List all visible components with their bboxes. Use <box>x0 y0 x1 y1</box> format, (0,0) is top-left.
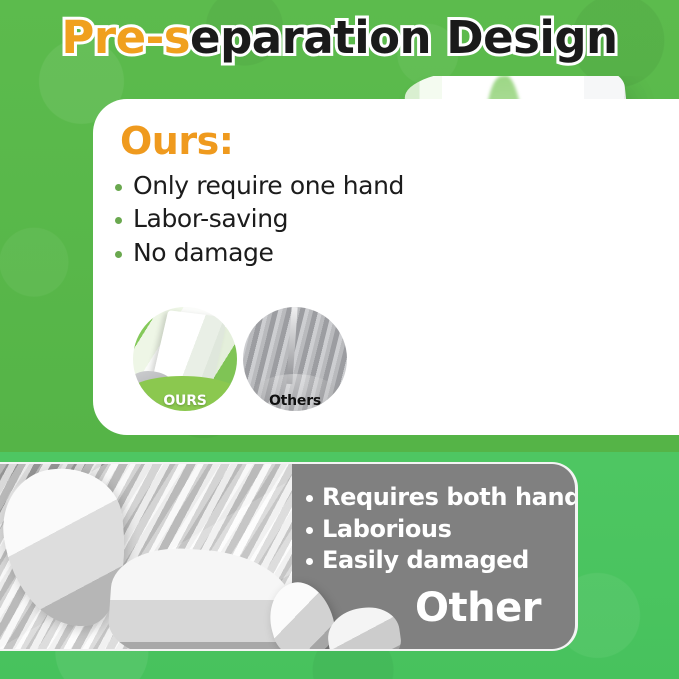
list-item: Requires both hands <box>304 482 578 514</box>
other-label: Other <box>415 585 541 631</box>
thumbnail-ours-label: OURS <box>133 393 237 409</box>
list-item: Labor-saving <box>113 202 404 235</box>
list-item: Laborious <box>304 514 578 546</box>
hand-shape-finger <box>324 603 403 651</box>
other-drawback-list: Requires both hands Laborious Easily dam… <box>304 482 578 577</box>
list-item: Only require one hand <box>113 169 404 202</box>
ours-benefit-list: Only require one hand Labor-saving No da… <box>113 169 404 269</box>
ours-card: Ours: Only require one hand Labor-saving… <box>93 99 679 435</box>
list-item: Easily damaged <box>304 545 578 577</box>
thumbnail-others-label: Others <box>243 393 347 409</box>
title-main-text: eparation Design <box>190 11 618 64</box>
thumbnail-others: Others <box>243 307 347 411</box>
list-item: No damage <box>113 236 404 269</box>
page-title: Pre-separation Design <box>0 14 679 62</box>
ours-title: Ours: <box>120 119 233 163</box>
bag-plastic-shape <box>106 544 297 651</box>
promo-graphic: Pre-separation Design Ours: Only require… <box>0 0 679 679</box>
other-photo-hands-tearing-bag <box>0 464 292 651</box>
other-panel: Requires both hands Laborious Easily dam… <box>0 462 578 651</box>
comparison-thumbnails: OURS Others <box>133 307 347 411</box>
thumbnail-ours: OURS <box>133 307 237 411</box>
title-accent-text: Pre-s <box>61 11 190 64</box>
